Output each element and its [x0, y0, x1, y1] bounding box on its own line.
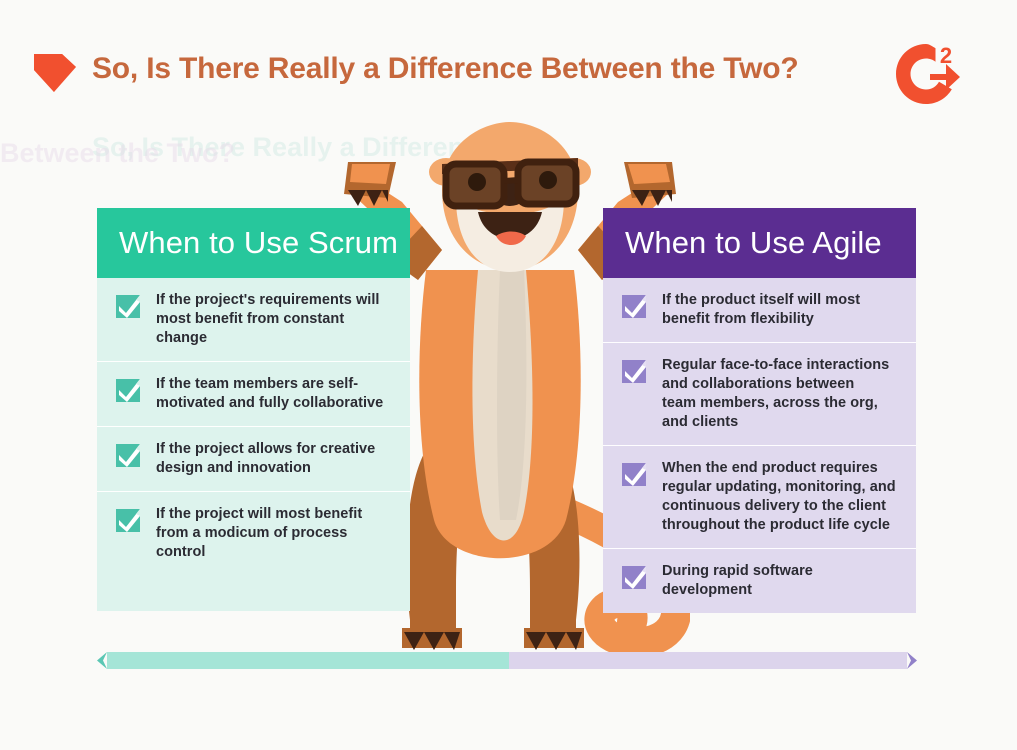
list-item-text: If the project will most benefit from a …: [156, 505, 394, 562]
list-item-text: Regular face-to-face interactions and co…: [662, 356, 889, 432]
checkbox-checked-icon: [621, 460, 649, 488]
g2-logo: 2: [890, 38, 962, 110]
bar-segment-agile: [509, 652, 907, 669]
panel-scrum-title: When to Use Scrum: [97, 208, 410, 278]
list-item-text: If the project allows for creative desig…: [156, 440, 375, 478]
list-item[interactable]: If the project will most benefit from a …: [97, 491, 410, 575]
chevron-right-icon: [907, 652, 917, 669]
panel-agile: When to Use Agile If the product itself …: [603, 208, 916, 613]
page-title: So, Is There Really a Difference Between…: [92, 52, 799, 86]
infographic-canvas: So, Is There Really a Difference Between…: [0, 0, 1017, 750]
panel-scrum-list: If the project's requirements will most …: [97, 278, 410, 611]
chevron-left-icon: [97, 652, 107, 669]
location-marker-icon: [32, 50, 78, 94]
checkbox-checked-icon: [115, 506, 143, 534]
list-item[interactable]: If the project allows for creative desig…: [97, 426, 410, 491]
list-item[interactable]: If the project's requirements will most …: [97, 278, 410, 361]
list-item[interactable]: If the team members are self- motivated …: [97, 361, 410, 426]
list-item-text: If the product itself will most benefit …: [662, 291, 860, 329]
page-title-echo-b: Between the Two?: [0, 138, 235, 169]
panel-agile-list: If the product itself will most benefit …: [603, 278, 916, 613]
list-item[interactable]: When the end product requires regular up…: [603, 445, 916, 548]
list-item-text: If the project's requirements will most …: [156, 291, 394, 348]
list-item-text: If the team members are self- motivated …: [156, 375, 383, 413]
checkbox-checked-icon: [115, 376, 143, 404]
list-item[interactable]: Regular face-to-face interactions and co…: [603, 342, 916, 445]
list-item-text: During rapid software development: [662, 562, 900, 600]
checkbox-checked-icon: [621, 563, 649, 591]
bar-segment-scrum: [107, 652, 509, 669]
list-item-text: When the end product requires regular up…: [662, 459, 896, 535]
list-item[interactable]: If the product itself will most benefit …: [603, 278, 916, 342]
bottom-progress-bar: [97, 652, 917, 669]
list-item[interactable]: During rapid software development: [603, 548, 916, 613]
checkbox-checked-icon: [115, 292, 143, 320]
page-header: So, Is There Really a Difference Between…: [0, 0, 1017, 130]
checkbox-checked-icon: [621, 292, 649, 320]
panel-scrum: When to Use Scrum If the project's requi…: [97, 208, 410, 611]
checkbox-checked-icon: [621, 357, 649, 385]
checkbox-checked-icon: [115, 441, 143, 469]
panel-agile-title: When to Use Agile: [603, 208, 916, 278]
svg-text:2: 2: [940, 43, 952, 68]
